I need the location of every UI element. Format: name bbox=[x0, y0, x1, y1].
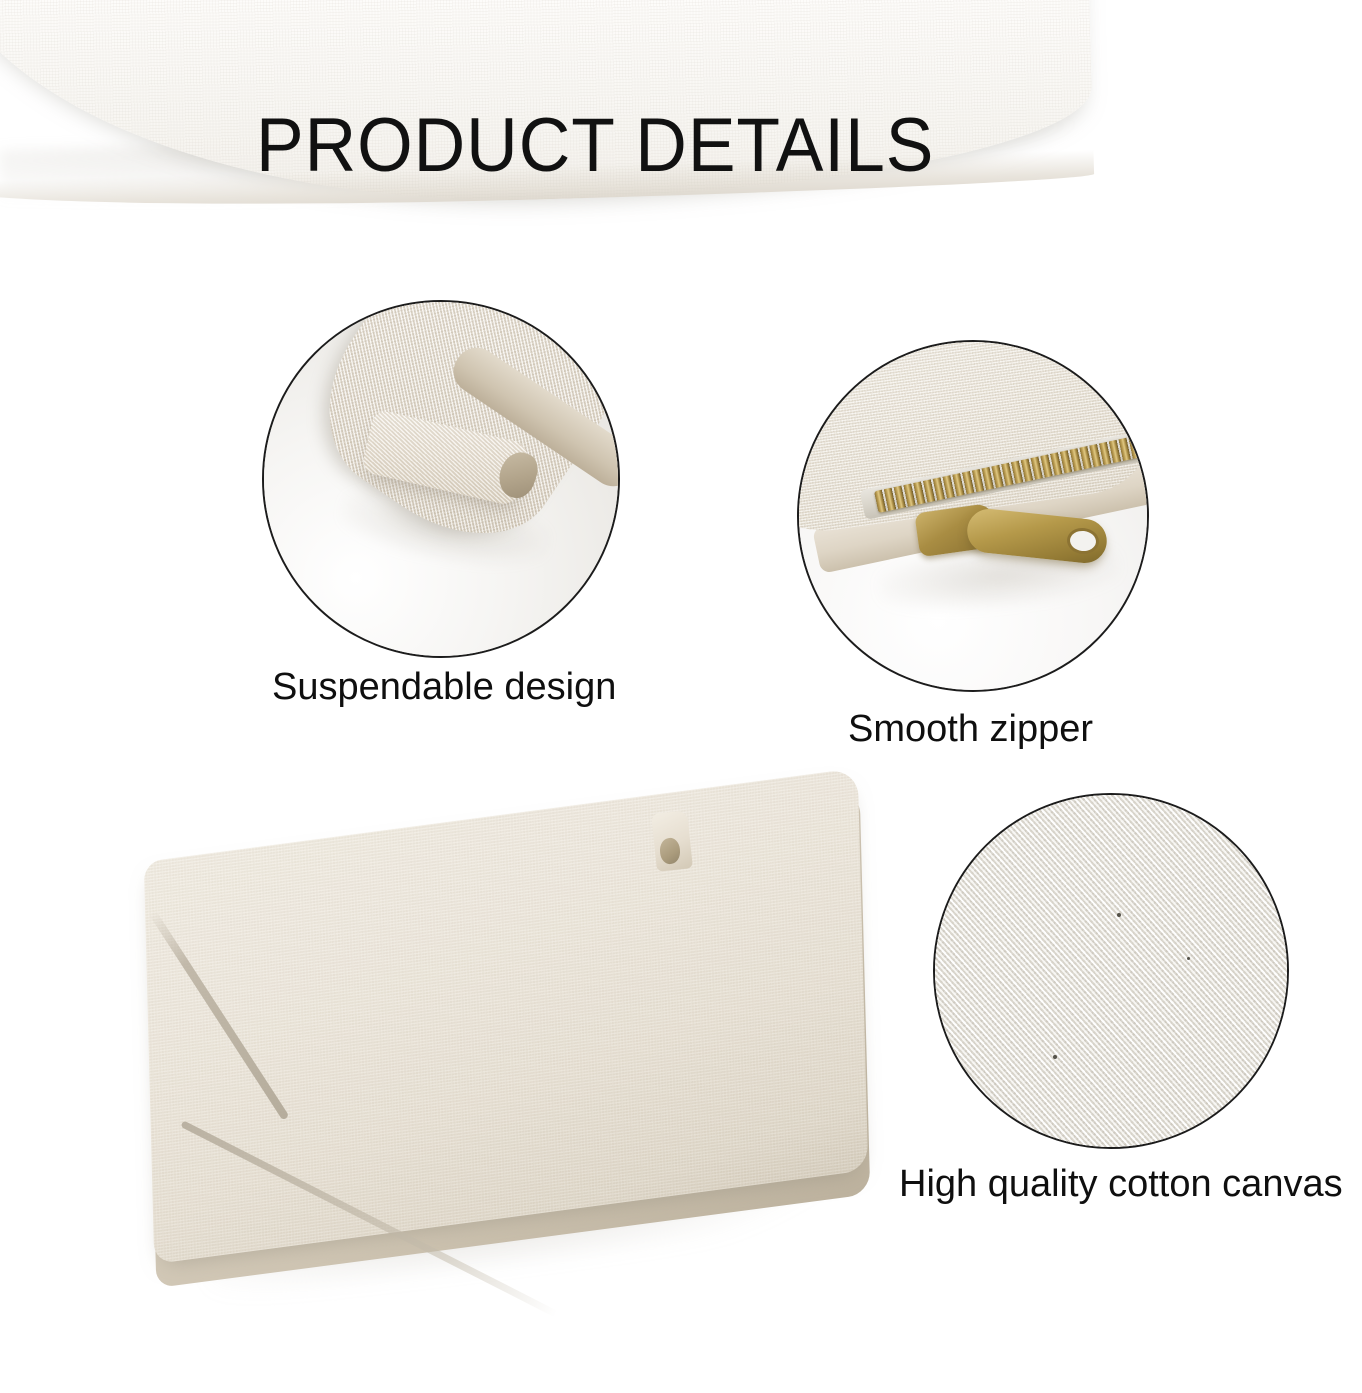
feature-caption-canvas: High quality cotton canvas bbox=[899, 1165, 1343, 1205]
smooth-zipper-photo bbox=[797, 340, 1149, 692]
feature-caption-suspendable: Suspendable design bbox=[272, 668, 616, 708]
feature-zipper: Smooth zipper bbox=[797, 340, 1149, 692]
feature-canvas: High quality cotton canvas bbox=[933, 793, 1289, 1149]
feature-caption-zipper: Smooth zipper bbox=[848, 710, 1093, 750]
canvas-weave-texture bbox=[935, 795, 1287, 1147]
fabric-speck bbox=[1187, 957, 1190, 960]
fabric-speck bbox=[1053, 1055, 1057, 1059]
cotton-canvas-texture-photo bbox=[933, 793, 1289, 1149]
feature-suspendable: Suspendable design bbox=[262, 300, 620, 658]
fabric-speck bbox=[1117, 913, 1121, 917]
fabric-speck bbox=[1215, 1113, 1218, 1116]
suspendable-design-photo bbox=[262, 300, 620, 658]
page-title: PRODUCT DETAILS bbox=[256, 108, 934, 184]
product-details-infographic: PRODUCT DETAILS Suspendable design Smoot… bbox=[0, 0, 1362, 1393]
product-photo-canvas-pouch bbox=[130, 790, 890, 1300]
